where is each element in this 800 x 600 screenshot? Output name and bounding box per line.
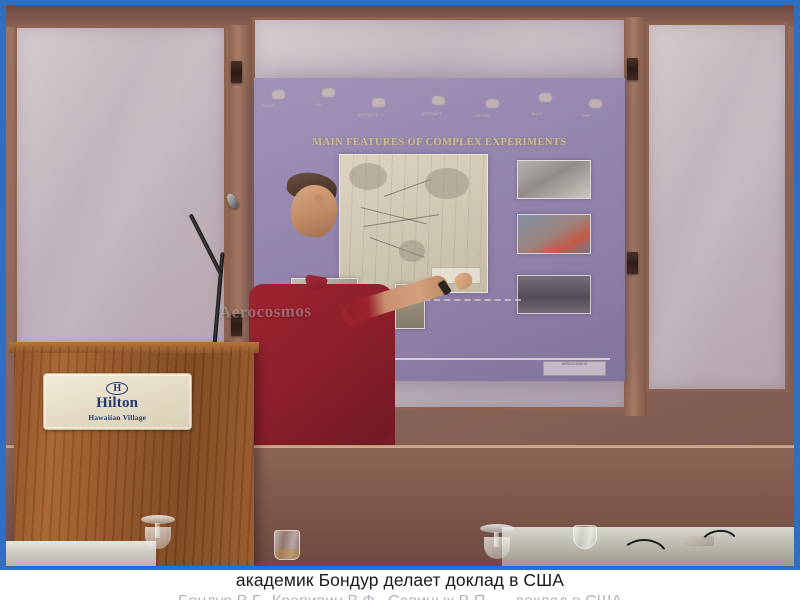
slide-icon-caption-1: AIR	[315, 102, 322, 107]
screenshot-root: SPACE AIR SATELLITE AIRCRAFT VESSEL BUOY…	[0, 0, 800, 600]
glass-tumbler-wine	[274, 530, 300, 560]
slide-icon-caption-4: VESSEL	[475, 113, 491, 118]
wall-panel-right	[646, 22, 788, 392]
hilton-brand-text: Hilton	[96, 396, 138, 412]
speaker-wristwatch	[437, 280, 451, 296]
conference-photo: SPACE AIR SATELLITE AIRCRAFT VESSEL BUOY…	[6, 5, 794, 566]
slide-photo-sea-surface	[517, 160, 591, 199]
photo-caption-second-line: Бондур В.Г., Крапивин В.Ф., Савиных В.П.…	[0, 592, 800, 600]
photo-caption: академик Бондур делает доклад в США	[0, 570, 800, 590]
panel-hinge-3	[627, 58, 638, 80]
panel-hinge-1	[231, 61, 242, 83]
glass-inverted-left	[140, 515, 176, 549]
table-left	[6, 541, 156, 566]
slide-icon-caption-3: AIRCRAFT	[422, 111, 442, 116]
hilton-logo-letter: H	[113, 384, 121, 394]
slide-icon-caption-2: SATELLITE	[358, 112, 379, 117]
slide-icon-satellite-1	[272, 90, 285, 99]
slide-icon-aircraft-2	[432, 96, 445, 105]
lectern: H Hilton Hawaiian Village	[14, 347, 254, 566]
glass-bowl-2	[484, 537, 510, 559]
slide-photo-oil-slick	[517, 214, 591, 253]
lectern-top-edge	[9, 342, 259, 353]
slide-icon-caption-0: SPACE	[262, 103, 275, 108]
slide-icon-caption-6: SHIP	[582, 113, 591, 118]
slide-icon-vessel	[486, 99, 499, 108]
caption-area: академик Бондур делает доклад в США Бонд…	[0, 570, 800, 600]
photo-blue-frame: SPACE AIR SATELLITE AIRCRAFT VESSEL BUOY…	[0, 0, 800, 570]
hilton-logo-icon: H	[106, 382, 128, 395]
hilton-plaque: H Hilton Hawaiian Village	[43, 373, 192, 430]
slide-title: MAIN FEATURES OF COMPLEX EXPERIMENTS	[265, 137, 613, 148]
speaker-pointing-arm	[345, 273, 451, 323]
slide-icon-aircraft-1	[372, 98, 385, 107]
slide-icon-ship	[589, 99, 602, 108]
slide-icon-buoy	[539, 93, 552, 102]
glass-bowl	[145, 527, 171, 549]
panel-hinge-4	[627, 252, 638, 274]
glass-inverted-center	[479, 524, 515, 560]
slide-photo-coastal	[517, 275, 591, 314]
hilton-property-text: Hawaiian Village	[88, 413, 146, 422]
slide-icon-caption-5: BUOY	[532, 111, 543, 116]
wall-panel-left	[14, 25, 227, 373]
slide-icon-row: SPACE AIR SATELLITE AIRCRAFT VESSEL BUOY…	[262, 84, 618, 132]
slide-footer-tag: AEROCOSMOS	[543, 361, 606, 376]
slide-icon-satellite-2	[322, 88, 335, 97]
speaker-ear	[314, 192, 325, 205]
